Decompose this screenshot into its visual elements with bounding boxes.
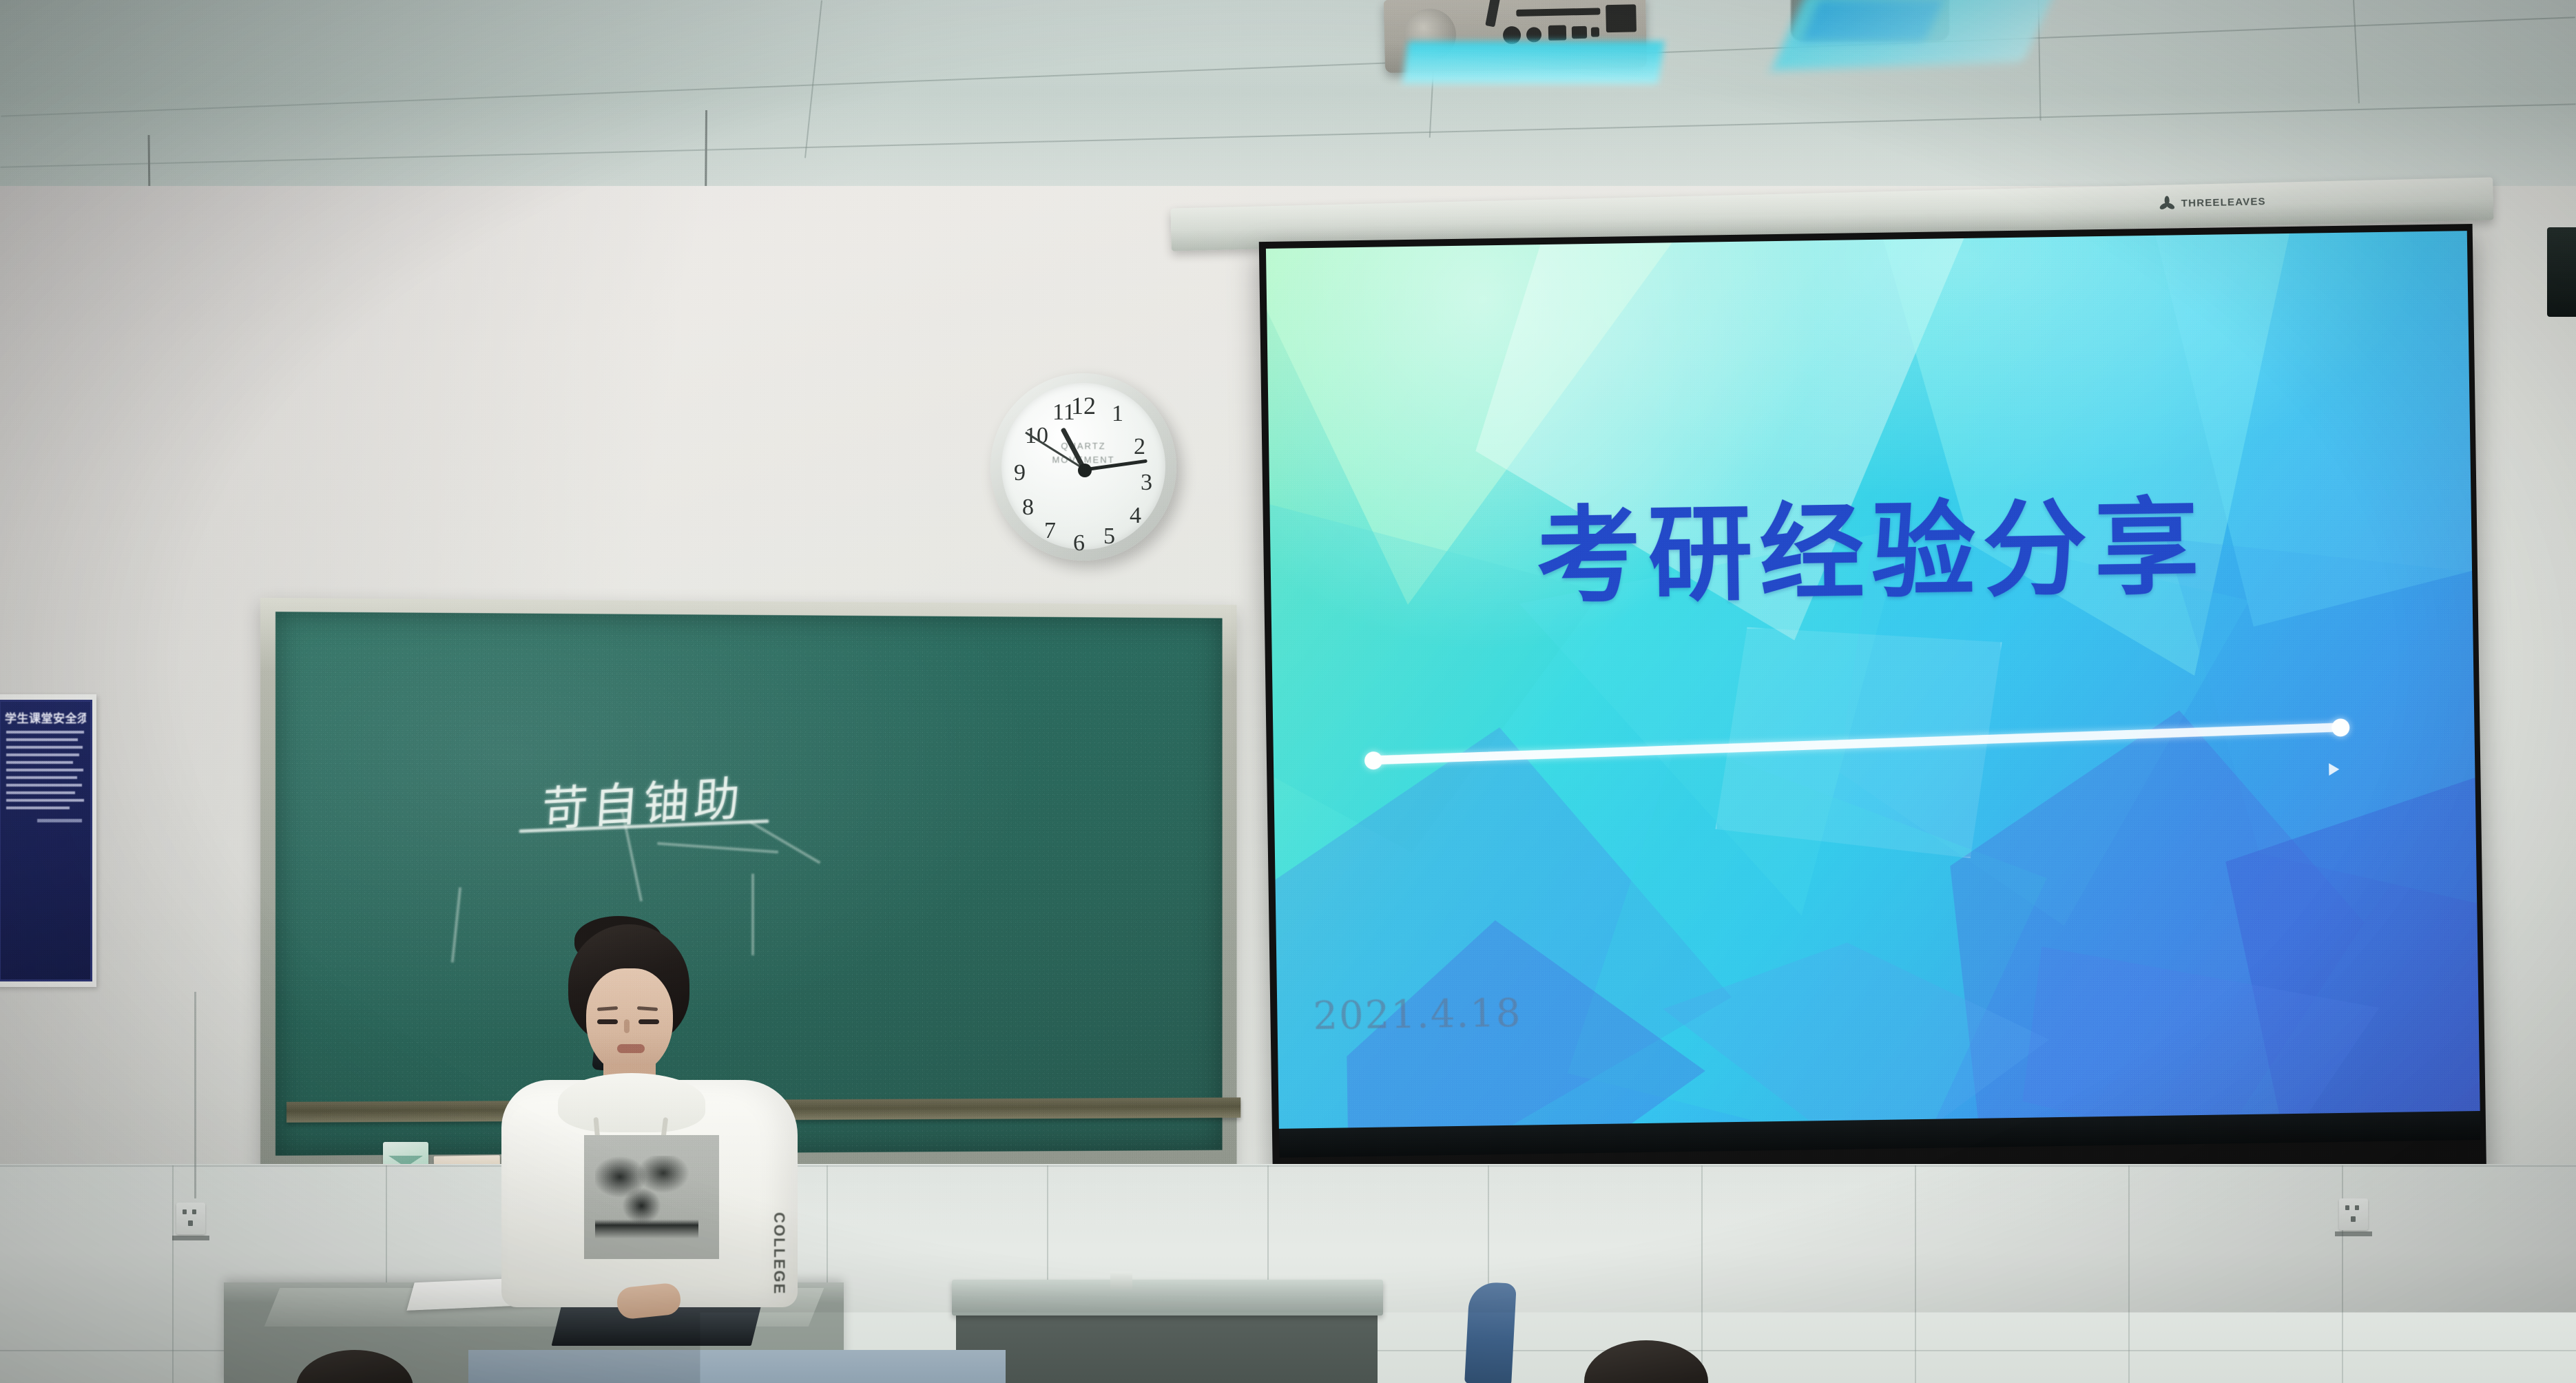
clock-numeral: 4 <box>1130 503 1141 529</box>
podium-front-panel <box>468 1350 1006 1383</box>
cabinet-latch[interactable] <box>1110 1271 1132 1289</box>
student-chair[interactable] <box>1464 1281 1517 1383</box>
notice-text-line <box>6 731 84 734</box>
eye-left <box>597 1019 618 1024</box>
notice-text-line <box>6 738 78 741</box>
notice-text-line <box>6 807 70 809</box>
clock-numeral: 9 <box>1014 460 1026 486</box>
clock-numeral: 7 <box>1044 518 1056 544</box>
outlet-shadow <box>2335 1231 2372 1236</box>
projector-mount-arm <box>1485 0 1502 27</box>
clock-numeral: 6 <box>1073 530 1085 557</box>
clock-numeral: 3 <box>1141 470 1152 496</box>
tile-grout <box>172 1165 174 1383</box>
clock-numeral: 5 <box>1103 523 1115 550</box>
ceiling-shadow <box>0 0 2576 207</box>
projector-port <box>1548 25 1566 41</box>
wall-conduit <box>194 992 196 1198</box>
hood <box>558 1073 705 1132</box>
slide-surface: 考研经验分享 2021.4.18 <box>1266 231 2480 1158</box>
projector-port <box>1606 4 1637 32</box>
clock-face: 12 1 2 3 4 5 6 7 8 9 10 11 QUARTZ MOVEME… <box>1001 383 1165 550</box>
notice-text-line <box>6 799 84 802</box>
eyebrow-left <box>597 1006 618 1011</box>
eyebrow-right <box>637 1006 658 1011</box>
screen-brand-label: THREELEAVES <box>2181 196 2266 209</box>
clock-numeral: 1 <box>1112 401 1123 427</box>
notice-board-panel: 学生课堂安全须知 <box>0 700 92 981</box>
classroom-photo: 学生课堂安全须知 12 1 2 3 4 5 6 7 8 9 <box>0 0 2576 1383</box>
projector-vent-slot <box>1516 8 1600 17</box>
wall-speaker <box>2547 227 2576 317</box>
tile-grout <box>1701 1165 1703 1383</box>
wall-outlet-right[interactable] <box>2339 1198 2368 1230</box>
screen-brand: THREELEAVES <box>2158 192 2267 213</box>
slide-title: 考研经验分享 <box>1535 462 2207 623</box>
notice-board-title: 学生课堂安全须知 <box>5 709 86 726</box>
tile-grout <box>2128 1165 2130 1383</box>
projection-screen: 考研经验分享 2021.4.18 <box>1259 224 2486 1200</box>
clock-numeral: 2 <box>1134 434 1145 460</box>
slide-caret-icon <box>2329 763 2339 776</box>
notice-text-line <box>6 769 83 771</box>
notice-text-line <box>6 784 82 787</box>
notice-text-line <box>6 776 77 779</box>
clock-numeral: 8 <box>1022 495 1034 521</box>
wall-notice-board: 学生课堂安全须知 <box>0 694 96 987</box>
notice-text-line <box>6 761 73 764</box>
mouth <box>617 1044 645 1053</box>
nose <box>624 1019 630 1033</box>
notice-text-line <box>6 791 75 794</box>
wall-outlet-left[interactable] <box>176 1203 205 1234</box>
equipment-cabinet-top <box>952 1280 1383 1316</box>
projector-beam-glow <box>1402 41 1665 84</box>
face <box>586 968 673 1074</box>
projector-port <box>1572 26 1587 39</box>
three-leaf-icon <box>2158 194 2177 213</box>
ceiling-light-reflection <box>1801 0 1944 41</box>
notice-text-line <box>6 746 83 749</box>
notice-text-line <box>6 753 79 756</box>
presenter: COLLEGE <box>482 916 813 1302</box>
tile-grout <box>1915 1165 1916 1383</box>
eye-right <box>638 1019 659 1024</box>
notice-board-signature <box>37 819 82 822</box>
slide-date: 2021.4.18 <box>1313 991 1522 1039</box>
outlet-shadow <box>172 1236 209 1240</box>
hoodie-graphic-print <box>584 1135 719 1259</box>
clock-numeral: 11 <box>1052 399 1075 426</box>
projector-port <box>1526 27 1541 42</box>
clock-center-pin <box>1078 464 1092 477</box>
wall-clock: 12 1 2 3 4 5 6 7 8 9 10 11 QUARTZ MOVEME… <box>990 373 1176 561</box>
projector-port <box>1591 27 1599 37</box>
hoodie-sleeve-text: COLLEGE <box>748 1212 788 1295</box>
